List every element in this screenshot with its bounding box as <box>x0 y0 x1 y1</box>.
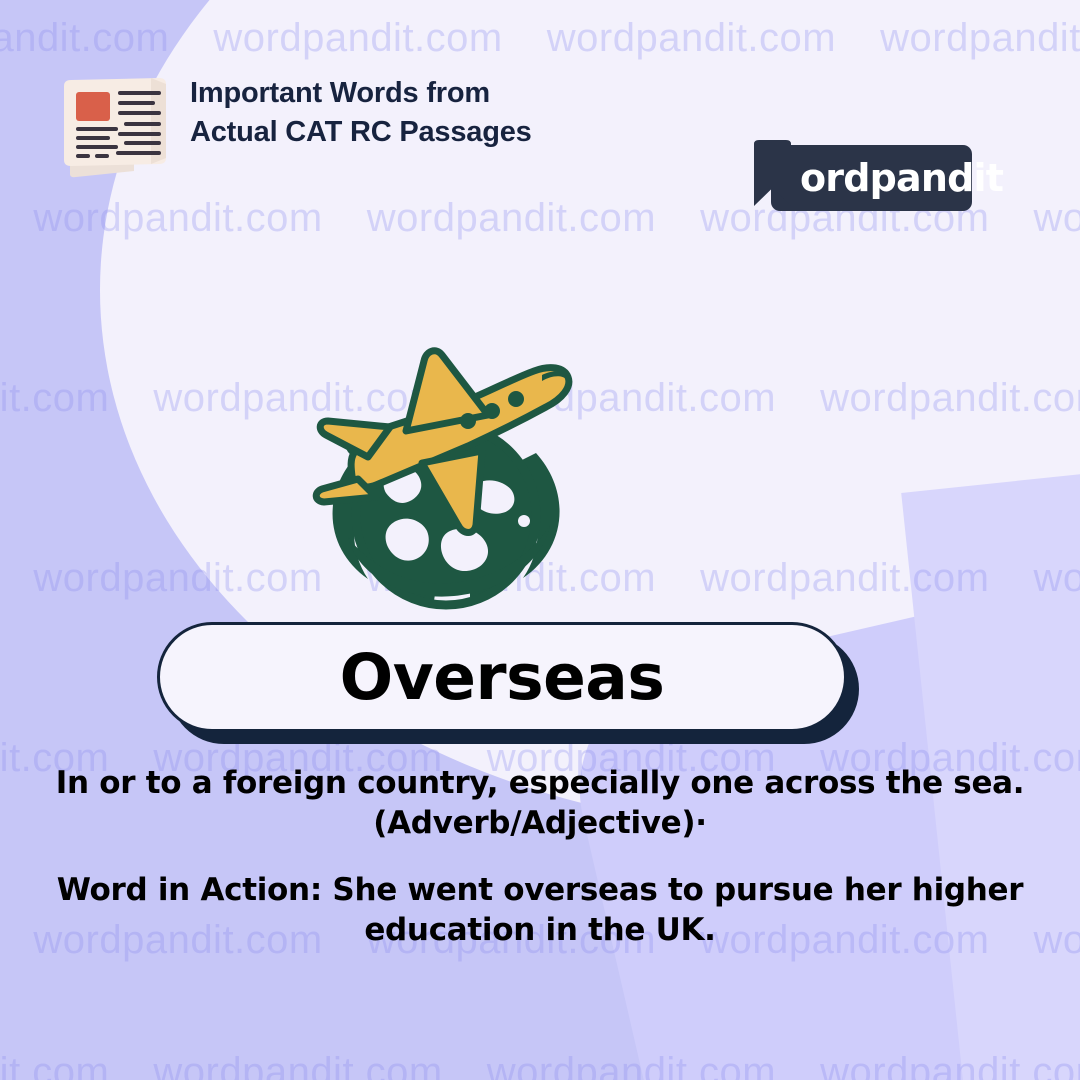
newspaper-icon <box>56 70 174 180</box>
definition-usage: Word in Action: She went overseas to pur… <box>40 870 1040 951</box>
definition-block: In or to a foreign country, especially o… <box>40 763 1040 981</box>
page-title-line-2: Actual CAT RC Passages <box>190 113 630 152</box>
page-title-line-1: Important Words from <box>190 74 630 113</box>
definition-meaning: In or to a foreign country, especially o… <box>40 763 1040 844</box>
word-card: Overseas <box>157 622 847 732</box>
bookmark-w-icon <box>748 140 792 216</box>
definition-part-of-speech: (Adverb/Adjective)· <box>373 805 707 841</box>
word-card-body: Overseas <box>157 622 847 732</box>
page-title: Important Words from Actual CAT RC Passa… <box>190 74 630 151</box>
word-card-graphic: wordpandit.comwordpandit.comwordpandit.c… <box>0 0 1080 1080</box>
airplane-over-globe-icon <box>300 335 590 610</box>
definition-meaning-text: In or to a foreign country, especially o… <box>56 765 1025 801</box>
brand-logo-text: ordpandit <box>800 156 1003 200</box>
word-title: Overseas <box>340 646 665 709</box>
header: Important Words from Actual CAT RC Passa… <box>0 60 1080 180</box>
brand-logo[interactable]: ordpandit <box>748 145 972 211</box>
